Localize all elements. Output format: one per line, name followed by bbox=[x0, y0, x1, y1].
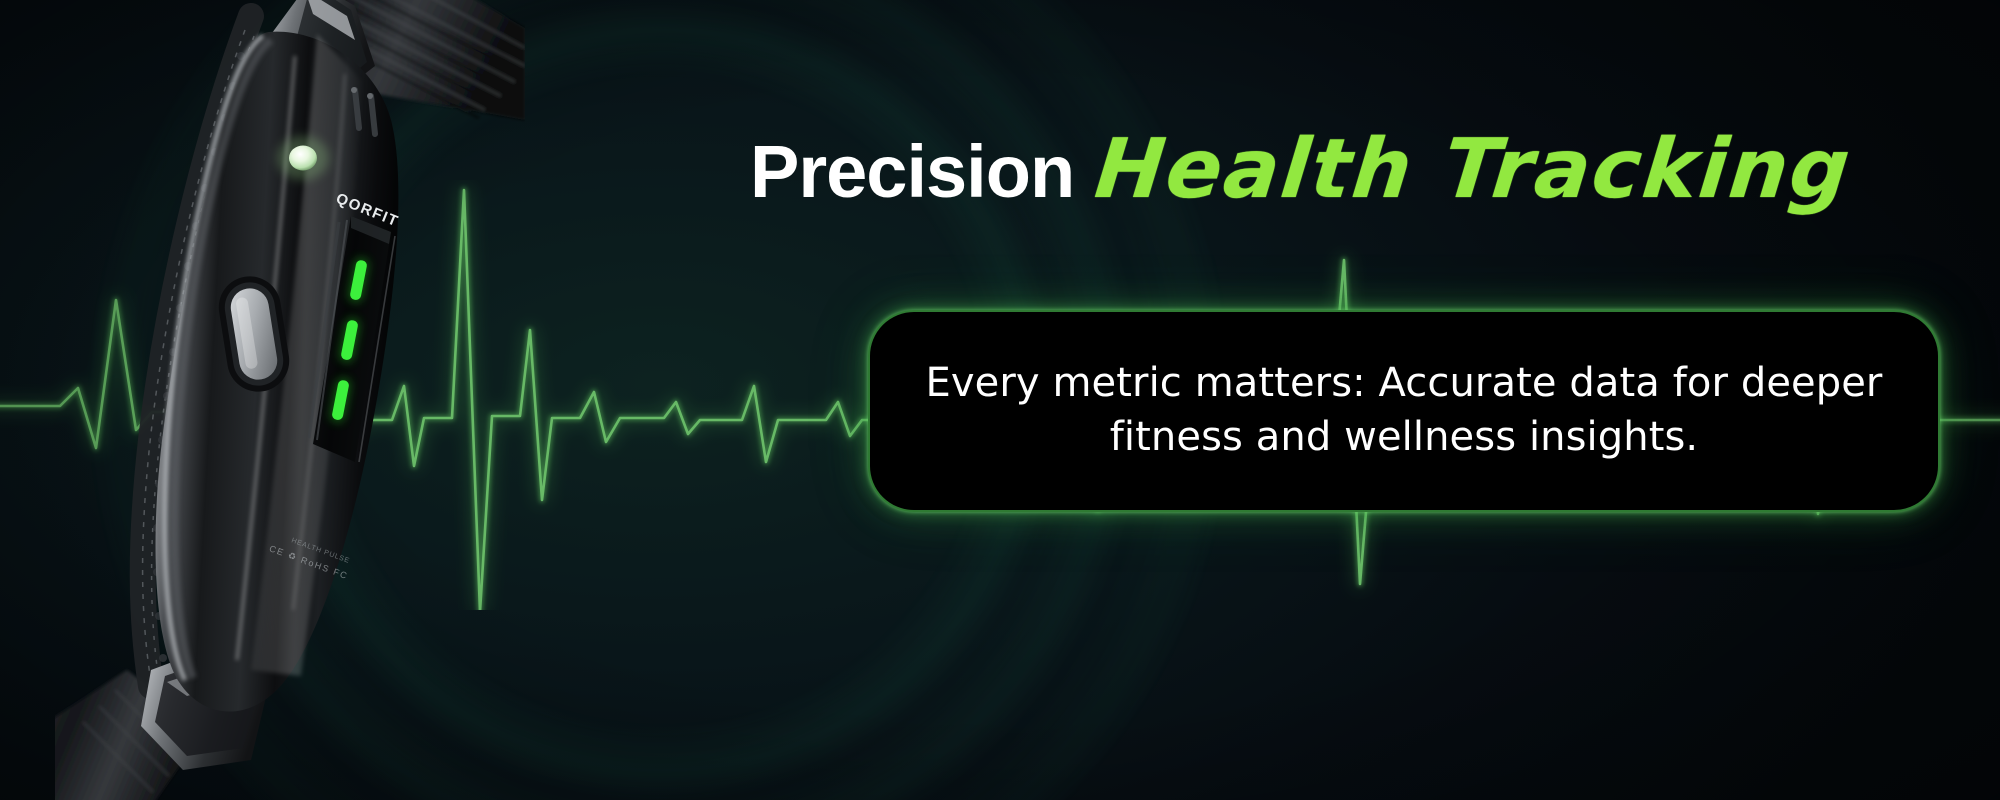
subtitle-text: Every metric matters: Accurate data for … bbox=[870, 357, 1938, 464]
headline-accent-word: Health Tracking bbox=[1092, 129, 1855, 211]
status-led-indicator bbox=[277, 136, 329, 180]
page-title: PrecisionHealth Tracking bbox=[750, 129, 2000, 211]
banner-content: PrecisionHealth Tracking Every metric ma… bbox=[700, 0, 2000, 800]
product-image-fitness-tracker: QORFIT bbox=[55, 0, 525, 800]
subtitle-card: Every metric matters: Accurate data for … bbox=[868, 310, 1940, 512]
headline-plain-word: Precision bbox=[750, 130, 1074, 213]
product-hero-banner: QORFIT bbox=[0, 0, 2000, 800]
